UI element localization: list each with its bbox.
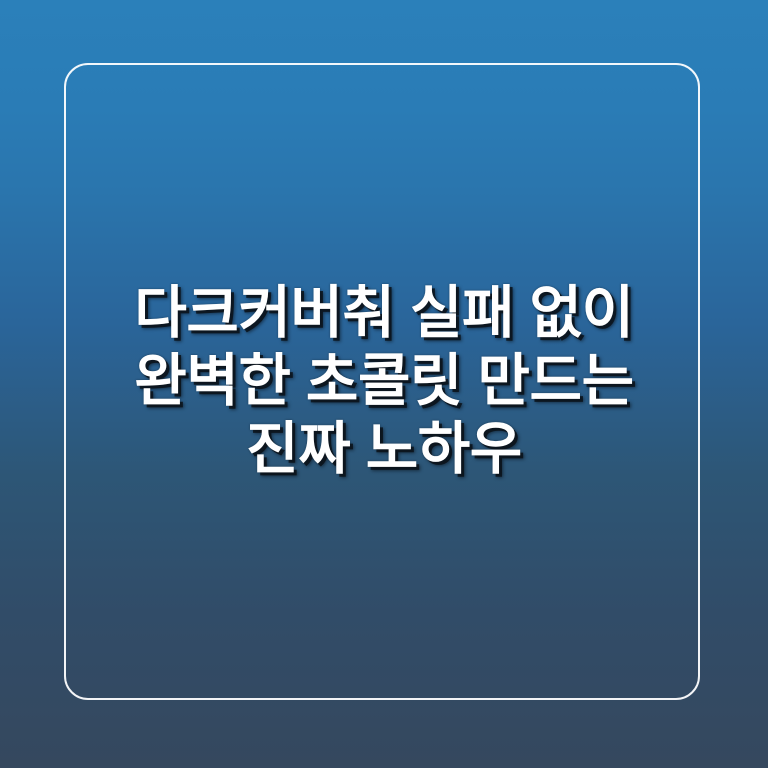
headline-line-2: 완벽한 초콜릿 만드는 — [48, 347, 720, 415]
headline-line-3: 진짜 노하우 — [48, 415, 720, 483]
thumbnail-canvas: 다크커버춰 실패 없이 완벽한 초콜릿 만드는 진짜 노하우 — [0, 0, 768, 768]
headline-block: 다크커버춰 실패 없이 완벽한 초콜릿 만드는 진짜 노하우 — [0, 279, 768, 483]
headline-line-1: 다크커버춰 실패 없이 — [48, 279, 720, 347]
